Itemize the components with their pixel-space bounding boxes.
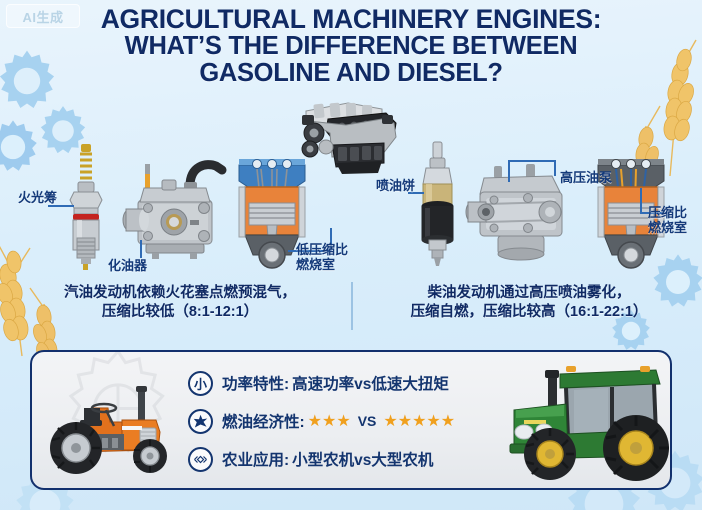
rating-vs-label: VS [354,413,381,429]
label-gasoline-chamber: 低压缩比 燃烧室 [296,242,348,272]
injector-illustration [412,140,464,275]
leader-line-spark-plug [48,205,74,207]
label-diesel-chamber: 压缩比 燃烧室 [648,205,687,235]
carburetor-illustration [118,152,230,267]
small-character-icon: 小 [188,371,213,396]
rating-stars-gasoline: ★★★ [308,411,351,431]
ai-generated-watermark: AI生成 [6,4,80,28]
green-large-tractor [508,358,678,489]
label-high-pressure-pump: 高压油泵 [560,170,612,185]
title-line-2: WHAT’S THE DIFFERENCE BETWEEN [0,33,702,60]
label-injector: 喷油饼 [376,178,415,193]
label-diesel-chamber-line1: 压缩比 [648,205,687,220]
label-diesel-chamber-line2: 燃烧室 [648,220,687,235]
gear-icon [0,118,42,176]
spark-plug-illustration [62,142,110,277]
section-divider [351,282,353,330]
label-carburetor: 化油器 [108,258,147,273]
label-gasoline-chamber-line1: 低压缩比 [296,242,348,257]
comparison-row-application-text: 农业应用: 小型农机vs大型农机 [222,448,433,470]
comparison-row-application-label: 农业应用: [222,448,289,470]
comparison-row-economy-label: 燃油经济性: [222,410,305,432]
label-gasoline-chamber-line2: 燃烧室 [296,257,348,272]
page-title: AGRICULTURAL MACHINERY ENGINES: WHAT’S T… [0,6,702,87]
leader-line-carburetor [140,240,142,258]
watermark-label: AI生成 [22,7,63,26]
gasoline-caption-line1: 汽油发动机依赖火花塞点燃预混气， [22,284,338,303]
comparison-row-power-text: 功率特性: 高速功率vs低速大扭矩 [222,372,449,394]
title-line-1: AGRICULTURAL MACHINERY ENGINES: [0,6,702,33]
leader-line-high-pressure-pump [508,160,556,182]
comparison-row-application-value: 小型农机vs大型农机 [292,448,433,470]
diesel-caption-line2: 压缩自燃，压缩比较高（16:1-22:1） [366,303,692,322]
burst-star-icon [188,409,213,434]
comparison-row-economy-text: 燃油经济性: ★★★ VS ★★★★★ [222,410,455,432]
rating-stars-diesel: ★★★★★ [383,411,455,431]
comparison-row-power-label: 功率特性: [222,372,289,394]
comparison-row-power-value: 高速功率vs低速大扭矩 [292,372,449,394]
title-line-3: GASOLINE AND DIESEL? [0,60,702,87]
diesel-caption-line1: 柴油发动机通过高压喷油雾化， [366,284,692,303]
diesel-caption: 柴油发动机通过高压喷油雾化， 压缩自燃，压缩比较高（16:1-22:1） [366,284,692,322]
label-spark-plug: 火光筹 [18,190,57,205]
orange-compact-tractor [36,378,176,483]
gasoline-caption-line2: 压缩比较低（8:1-12:1） [22,303,338,322]
gear-diamond-icon [188,447,213,472]
gasoline-caption: 汽油发动机依赖火花塞点燃预混气， 压缩比较低（8:1-12:1） [22,284,338,322]
